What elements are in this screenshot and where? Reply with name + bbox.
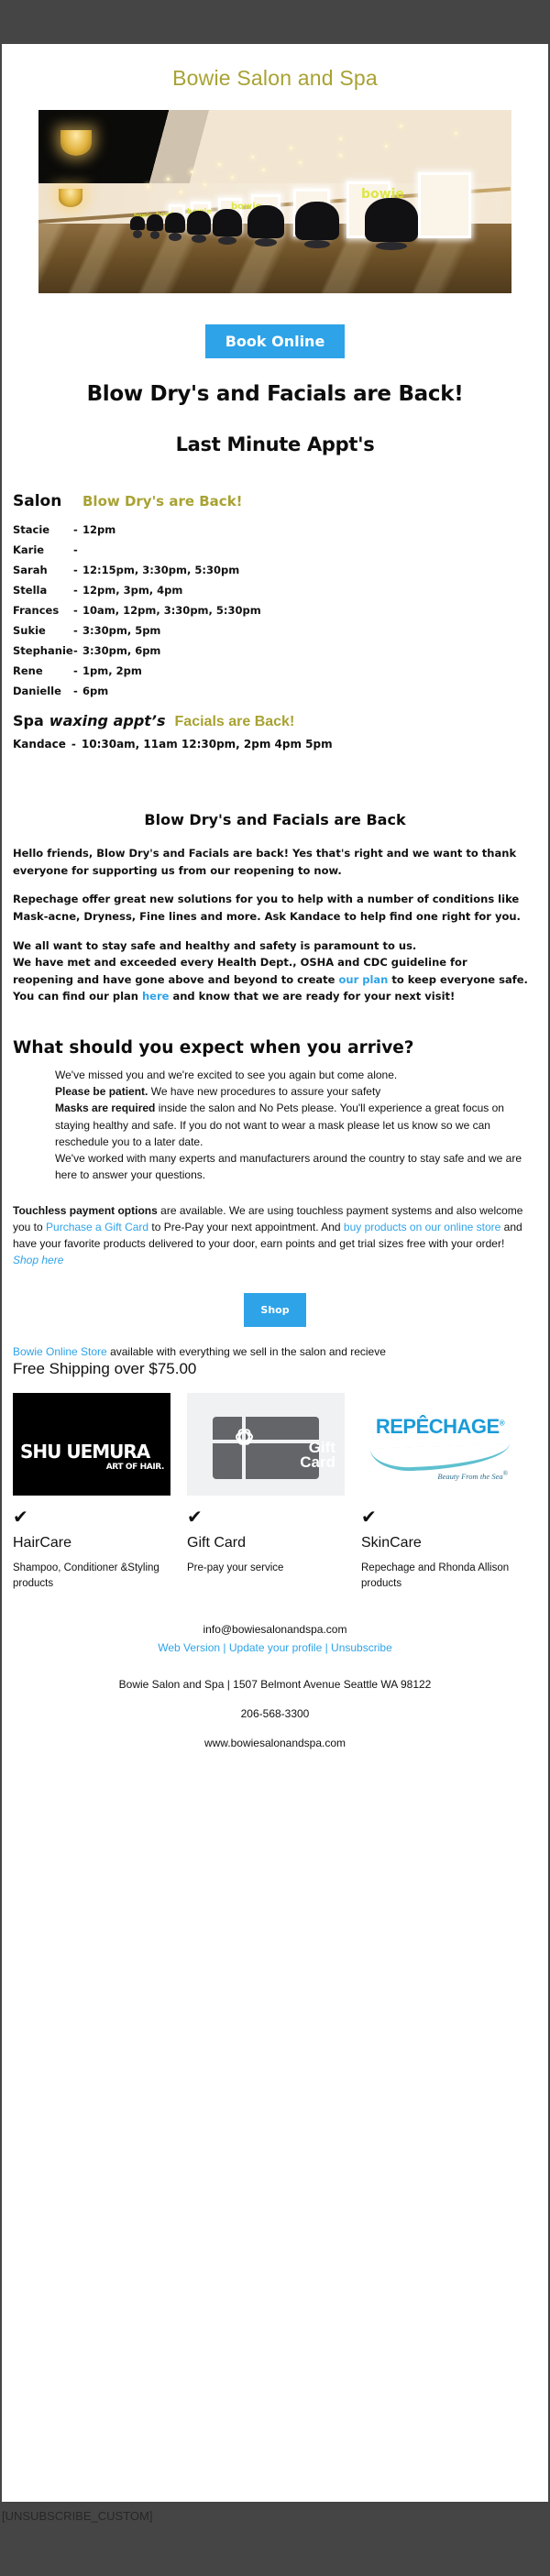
stylist-name: Sukie [13,624,73,637]
book-online-row: Book Online [2,293,548,358]
purchase-gift-card-link[interactable]: Purchase a Gift Card [46,1221,148,1233]
body-paragraph-3: We all want to stay safe and healthy and… [13,937,528,1006]
stylist-name: Sarah [13,564,73,576]
card-title: Gift Card [187,1527,345,1551]
ceiling-light-icon [191,170,193,173]
body-paragraph-2: Repechage offer great new solutions for … [13,891,528,925]
body-copy: Hello friends, Blow Dry's and Facials ar… [2,828,548,1005]
stylist-times: 3:30pm, 5pm [82,624,160,637]
table-row: Frances - 10am, 12pm, 3:30pm, 5:30pm [13,600,548,620]
stylist-times: 10am, 12pm, 3:30pm, 5:30pm [82,604,261,617]
salon-chair [130,216,145,230]
salon-chair [147,214,163,231]
salon-chair [165,213,185,233]
stylist-name: Stacie [13,523,73,536]
shop-here-link[interactable]: Shop here [13,1254,63,1266]
salon-label: Salon [13,492,82,510]
link-separator: | [220,1641,229,1654]
top-dark-band [0,0,550,44]
card-title: HairCare [13,1527,170,1551]
shu-uemura-tagline: ART OF HAIR. [106,1463,164,1472]
contact-email: info@bowiesalonandspa.com [2,1623,548,1636]
check-icon: ✔ [187,1496,345,1527]
stylist-times: 12pm, 3pm, 4pm [82,584,182,597]
row-dash: - [73,624,82,637]
repechage-tagline: Beauty From the Sea® [367,1470,513,1481]
expect-line-2: We have new procedures to assure your sa… [148,1085,380,1098]
expect-section-title: What should you expect when you arrive? [2,1005,548,1058]
gift-card-logo[interactable]: GiftCard [187,1393,345,1496]
online-store-text: available with everything we sell in the… [107,1345,386,1358]
product-card-haircare[interactable]: SHU UEMURA ART OF HAIR. ✔ HairCare Shamp… [13,1393,170,1593]
stylist-name: Danielle [13,685,73,697]
stylist-times: 3:30pm, 6pm [82,644,160,657]
hero-image-wrap: bowie bowie bowie bowie bowie [2,91,548,293]
ceiling-light-icon [167,178,170,181]
blow-dry-banner: Blow Dry's are Back! [82,493,243,510]
row-dash: - [73,584,82,597]
salon-interior-image: bowie bowie bowie bowie bowie [38,110,511,293]
ceiling-light-icon [180,191,182,193]
page-title: Bowie Salon and Spa [2,44,548,91]
update-profile-link[interactable]: Update your profile [229,1641,322,1654]
stylist-name: Stephanie [13,644,73,657]
table-row: Sukie - 3:30pm, 5pm [13,620,548,641]
safety-line-1: We all want to stay safe and healthy and… [13,939,416,952]
repechage-wave-icon [370,1443,511,1472]
check-icon: ✔ [361,1496,519,1527]
link-separator: | [322,1641,331,1654]
row-dash: - [71,738,76,751]
bowie-online-store-link[interactable]: Bowie Online Store [13,1345,107,1358]
ceiling-light-icon [400,125,402,127]
our-plan-link[interactable]: our plan [338,973,388,986]
stylist-name: Karie [13,543,73,556]
spa-provider-times: 10:30am, 11am 12:30pm, 2pm 4pm 5pm [82,738,333,751]
table-row: Kandace - 10:30am, 11am 12:30pm, 2pm 4pm… [13,734,548,751]
mirror-station [418,172,471,238]
card-description: Shampoo, Conditioner &Styling products [13,1551,170,1593]
table-row: Sarah - 12:15pm, 3:30pm, 5:30pm [13,560,548,580]
touchless-bold: Touchless payment options [13,1204,158,1217]
ceiling-light-icon [339,154,342,157]
stylist-name: Frances [13,604,73,617]
expect-bold-patient: Please be patient. [55,1085,148,1098]
body-section-title: Blow Dry's and Facials are Back [2,751,548,828]
card-description: Repechage and Rhonda Allison products [361,1551,519,1593]
salon-chair [187,211,211,235]
table-row: Danielle - 6pm [13,681,548,701]
ceiling-light-icon [385,145,388,148]
expect-bold-masks: Masks are required [55,1102,155,1114]
facials-banner: Facials are Back! [175,714,295,730]
ceiling-light-icon [262,169,265,171]
ceiling-light-icon [455,132,457,135]
body-paragraph-1: Hello friends, Blow Dry's and Facials ar… [13,845,528,879]
web-version-link[interactable]: Web Version [158,1641,220,1654]
stylist-times: 6pm [82,685,108,697]
product-card-giftcard[interactable]: GiftCard ✔ Gift Card Pre-pay your servic… [187,1393,345,1593]
ceiling-light-icon [218,163,221,166]
business-address: Bowie Salon and Spa | 1507 Belmont Avenu… [2,1654,548,1691]
ceiling-light-icon [339,137,342,140]
salon-chair [295,202,339,240]
appointment-schedule: Salon Blow Dry's are Back! Stacie - 12pm… [2,455,548,751]
email-page: Bowie Salon and Spa [0,0,550,2576]
ceiling-light-icon [231,176,234,179]
gift-bow-icon [227,1426,260,1457]
table-row: Rene - 1pm, 2pm [13,661,548,681]
repechage-wordmark: REPÊCHAGE® [367,1415,513,1439]
touchless-copy: Touchless payment options are available.… [2,1184,548,1269]
ceiling-light-icon [290,147,292,149]
stylist-times: 12:15pm, 3:30pm, 5:30pm [82,564,239,576]
expect-copy: We've missed you and we're excited to se… [2,1058,548,1184]
touchless-text-2: to Pre-Pay your next appointment. And [148,1221,344,1233]
row-dash: - [73,664,82,677]
safety-line-4: and know that we are ready for your next… [169,990,455,1003]
row-dash: - [73,564,82,576]
headline-primary: Blow Dry's and Facials are Back! [2,358,548,406]
business-website: www.bowiesalonandspa.com [2,1720,548,1749]
row-dash: - [73,523,82,536]
salon-chair [365,198,418,242]
chandelier-icon [59,189,82,207]
stylist-times: 1pm, 2pm [82,664,142,677]
ceiling-light-icon [147,185,149,188]
free-shipping-text: Free Shipping over $75.00 [2,1358,548,1378]
unsubscribe-token: [UNSUBSCRIBE_CUSTOM] [2,2509,152,2523]
headline-secondary: Last Minute Appt's [2,406,548,455]
repechage-logo[interactable]: REPÊCHAGE® Beauty From the Sea® [361,1393,519,1496]
email-sheet: Bowie Salon and Spa [2,44,548,2502]
ceiling-light-icon [203,183,206,186]
online-store-line: Bowie Online Store available with everyt… [2,1327,548,1358]
row-dash: - [73,543,82,556]
row-dash: - [73,685,82,697]
row-dash: - [73,644,82,657]
product-card-skincare[interactable]: REPÊCHAGE® Beauty From the Sea® ✔ SkinCa… [361,1393,519,1593]
salon-chair [247,205,284,238]
footer-links: Web Version | Update your profile | Unsu… [2,1636,548,1654]
spa-label: Spa [13,712,44,729]
gift-card-wordmark: GiftCard [300,1441,335,1471]
shu-uemura-wordmark: SHU UEMURA [20,1441,149,1463]
table-row: Stephanie - 3:30pm, 6pm [13,641,548,661]
product-cards: SHU UEMURA ART OF HAIR. ✔ HairCare Shamp… [2,1378,548,1593]
unsubscribe-link[interactable]: Unsubscribe [331,1641,392,1654]
table-row: Karie - [13,540,548,560]
table-row: Stacie - 12pm [13,520,548,540]
check-icon: ✔ [13,1496,170,1527]
table-row: Stella - 12pm, 3pm, 4pm [13,580,548,600]
card-title: SkinCare [361,1527,519,1551]
expect-line-4: We've worked with many experts and manuf… [55,1152,522,1181]
expect-line-1: We've missed you and we're excited to se… [55,1069,397,1081]
stylist-times: 12pm [82,523,115,536]
ceiling-light-icon [251,156,254,159]
touchless-paragraph: Touchless payment options are available.… [13,1202,528,1269]
stylist-name: Rene [13,664,73,677]
online-store-link[interactable]: buy products on our online store [344,1221,500,1233]
card-description: Pre-pay your service [187,1551,345,1576]
email-footer: info@bowiesalonandspa.com Web Version | … [2,1592,548,1749]
shop-button[interactable]: Shop [244,1293,305,1327]
shop-button-row: Shop [2,1269,548,1327]
shu-uemura-logo[interactable]: SHU UEMURA ART OF HAIR. [13,1393,170,1496]
stylist-name: Stella [13,584,73,597]
row-dash: - [73,604,82,617]
chandelier-icon [60,130,92,156]
spa-waxing-label: waxing appt’s [49,712,166,729]
schedule-header: Salon Blow Dry's are Back! [13,492,548,520]
salon-chair [213,209,242,236]
spa-provider-name: Kandace [13,738,66,751]
book-online-button[interactable]: Book Online [205,324,346,358]
spa-header: Spa waxing appt’s Facials are Back! [13,701,548,734]
ceiling-light-icon [299,161,302,164]
here-link[interactable]: here [142,990,169,1003]
business-phone: 206-568-3300 [2,1691,548,1720]
